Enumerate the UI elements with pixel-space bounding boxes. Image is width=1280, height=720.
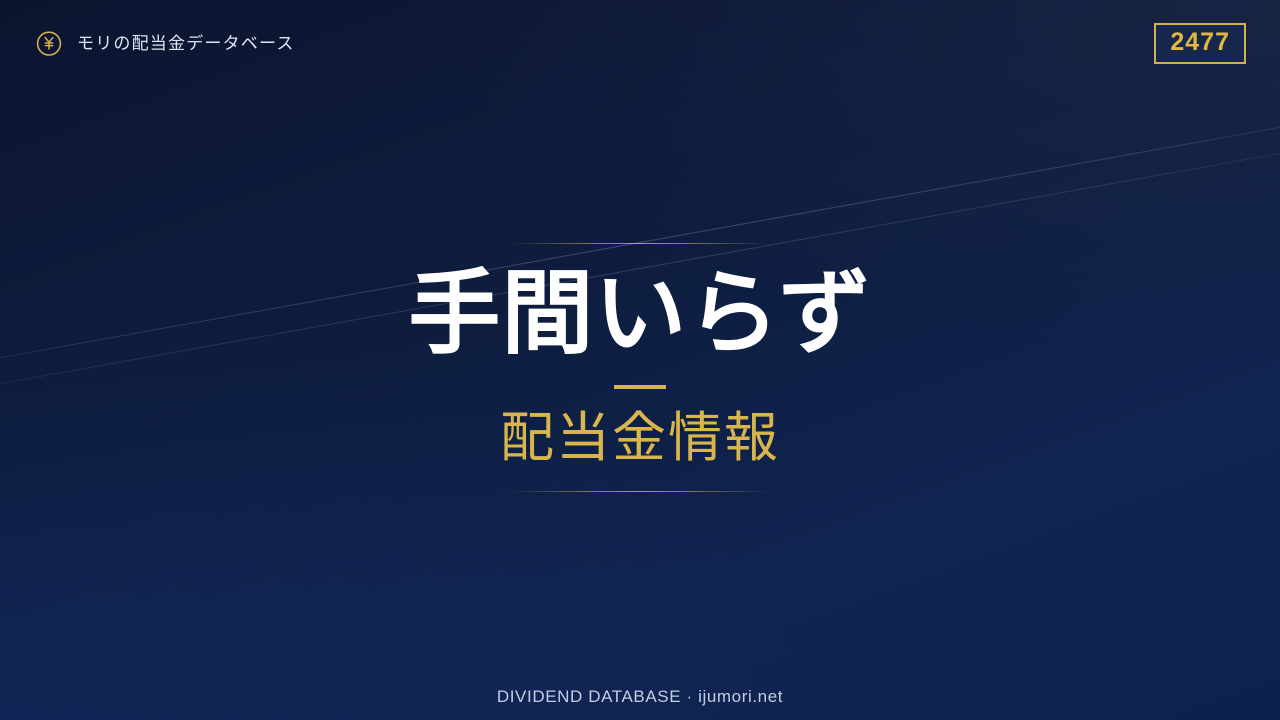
- hero-top-rule: [509, 243, 771, 244]
- yen-circle-icon: [34, 28, 64, 58]
- title-card: モリの配当金データベース 2477 手間いらず 配当金情報 DIVIDEND D…: [0, 0, 1280, 720]
- page-footer: DIVIDEND DATABASE · ijumori.net: [0, 688, 1280, 707]
- footer-text: DIVIDEND DATABASE · ijumori.net: [497, 687, 783, 706]
- brand-label: モリの配当金データベース: [77, 35, 295, 52]
- hero-block: 手間いらず 配当金情報: [0, 243, 1280, 492]
- ticker-badge[interactable]: 2477: [1154, 23, 1246, 64]
- hero-bottom-rule: [509, 491, 771, 492]
- page-header: モリの配当金データベース 2477: [0, 0, 1280, 86]
- page-subtitle: 配当金情報: [500, 411, 780, 465]
- brand[interactable]: モリの配当金データベース: [34, 28, 295, 58]
- page-title: 手間いらず: [408, 268, 871, 360]
- hero-gold-divider: [614, 385, 666, 389]
